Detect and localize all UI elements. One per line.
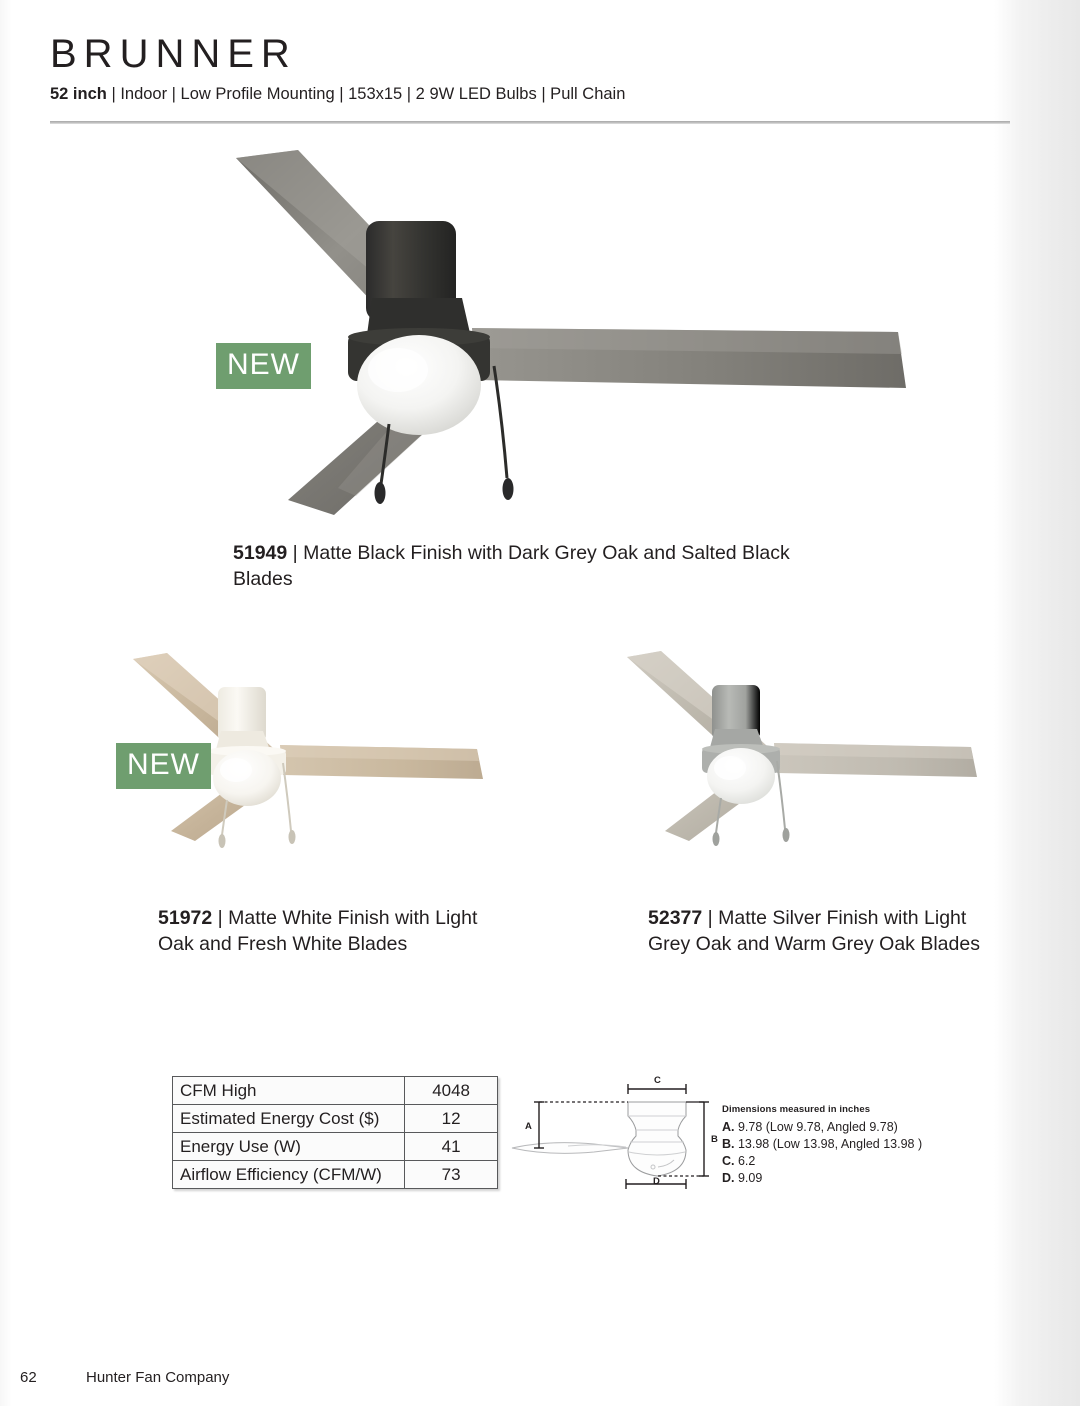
- product-spec-summary: 52 inch | Indoor | Low Profile Mounting …: [50, 85, 1010, 104]
- spec-label: Estimated Energy Cost ($): [173, 1105, 405, 1133]
- specifications-table: CFM High 4048 Estimated Energy Cost ($) …: [172, 1076, 498, 1189]
- dimension-key-c: C.: [722, 1154, 735, 1168]
- page-edge-right-shading: [994, 0, 1080, 1406]
- product-separator-51949: |: [287, 542, 303, 564]
- product-description-51949: Matte Black Finish with Dark Grey Oak an…: [233, 542, 790, 590]
- page-footer: 62Hunter Fan Company: [20, 1369, 229, 1386]
- dim-label-a: A: [525, 1121, 532, 1132]
- dim-label-b: B: [711, 1134, 718, 1145]
- new-badge-51949: NEW: [216, 343, 311, 389]
- product-image-52377: [605, 645, 1005, 885]
- table-row: CFM High 4048: [173, 1077, 498, 1105]
- dimension-value-a: 9.78 (Low 9.78, Angled 9.78): [735, 1120, 898, 1134]
- dimension-heading: Dimensions measured in inches: [722, 1104, 982, 1115]
- table-row: Airflow Efficiency (CFM/W) 73: [173, 1161, 498, 1189]
- page-edge-left-shading: [0, 0, 12, 1406]
- fan-size-label: 52 inch: [50, 85, 107, 103]
- dimension-line-b: B. 13.98 (Low 13.98, Angled 13.98 ): [722, 1136, 982, 1153]
- product-image-51949: [226, 148, 916, 523]
- dimension-line-d: D. 9.09: [722, 1170, 982, 1187]
- spec-label: Energy Use (W): [173, 1133, 405, 1161]
- dimension-value-d: 9.09: [735, 1171, 763, 1185]
- dimension-details: Dimensions measured in inches A. 9.78 (L…: [722, 1104, 982, 1187]
- product-caption-51972: 51972 | Matte White Finish with Light Oa…: [158, 906, 488, 957]
- company-name: Hunter Fan Company: [86, 1369, 229, 1386]
- dim-label-d: D: [653, 1176, 660, 1187]
- product-separator-51972: |: [212, 907, 228, 929]
- table-row: Estimated Energy Cost ($) 12: [173, 1105, 498, 1133]
- page-number: 62: [20, 1369, 86, 1386]
- dimension-line-c: C. 6.2: [722, 1153, 982, 1170]
- product-sku-51949: 51949: [233, 542, 287, 564]
- table-row: Energy Use (W) 41: [173, 1133, 498, 1161]
- product-caption-51949: 51949 | Matte Black Finish with Dark Gre…: [233, 541, 843, 592]
- product-caption-52377: 52377 | Matte Silver Finish with Light G…: [648, 906, 988, 957]
- new-badge-51972: NEW: [116, 743, 211, 789]
- spec-value: 41: [405, 1133, 498, 1161]
- spec-value: 4048: [405, 1077, 498, 1105]
- dimension-value-b: 13.98 (Low 13.98, Angled 13.98 ): [735, 1137, 923, 1151]
- dimension-key-b: B.: [722, 1137, 735, 1151]
- dim-label-c: C: [654, 1075, 661, 1086]
- spec-label: Airflow Efficiency (CFM/W): [173, 1161, 405, 1189]
- spec-value: 12: [405, 1105, 498, 1133]
- dimension-value-c: 6.2: [735, 1154, 756, 1168]
- page-title: BRUNNER: [50, 32, 1010, 76]
- spec-value: 73: [405, 1161, 498, 1189]
- spec-label: CFM High: [173, 1077, 405, 1105]
- fan-features-label: | Indoor | Low Profile Mounting | 153x15…: [107, 85, 626, 103]
- dimension-key-a: A.: [722, 1120, 735, 1134]
- dimension-diagram: A B C D: [508, 1072, 720, 1190]
- dimension-line-a: A. 9.78 (Low 9.78, Angled 9.78): [722, 1119, 982, 1136]
- header-divider: [50, 121, 1010, 124]
- product-sku-52377: 52377: [648, 907, 702, 929]
- dimension-key-d: D.: [722, 1171, 735, 1185]
- product-sku-51972: 51972: [158, 907, 212, 929]
- page-header: BRUNNER 52 inch | Indoor | Low Profile M…: [50, 32, 1010, 104]
- product-separator-52377: |: [702, 907, 718, 929]
